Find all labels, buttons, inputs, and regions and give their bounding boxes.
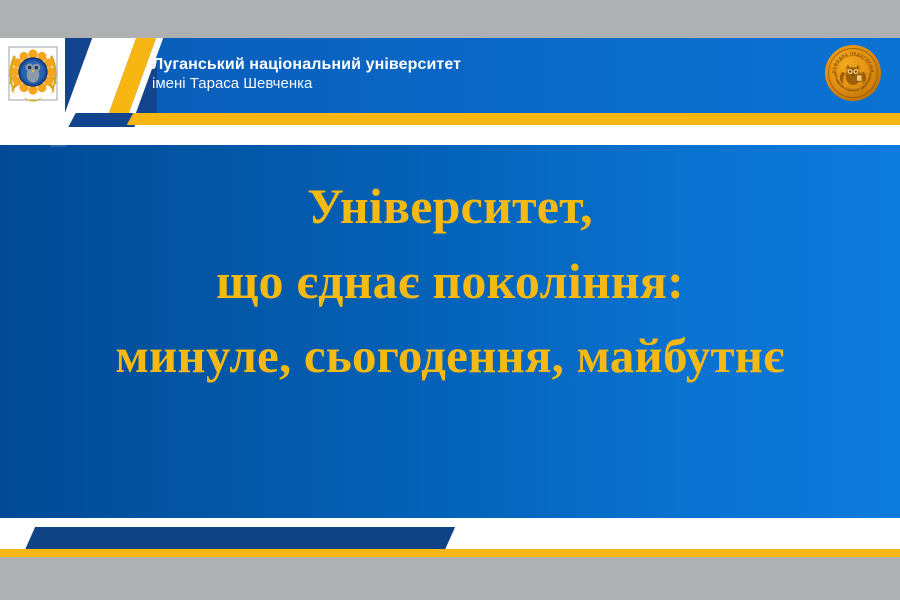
page-frame-top [0,0,900,38]
header-gold-rule [150,113,900,125]
university-name-line2: імені Тараса Шевченка [152,75,461,93]
university-name-line1: Луганський національний університет [152,56,461,75]
page-frame-bottom [0,557,900,600]
university-logo-plate [0,38,65,117]
render-artifact [50,145,66,147]
footer-gold-rule [0,549,900,557]
parallelogram-accent-icon [25,527,455,550]
slide-body: Університет, що єднає покоління: минуле,… [0,145,900,518]
university-name: Луганський національний університет імен… [152,56,461,93]
headline-line-3: минуле, сьогодення, майбутнє [0,319,900,393]
presentation-slide: Луганський національний університет імен… [0,0,900,600]
slide-headline: Університет, що єднає покоління: минуле,… [0,169,900,393]
slide-header-band: Луганський національний університет імен… [0,38,900,113]
owl-emblem-logo-icon [5,43,61,113]
headline-line-1: Університет, [0,169,900,244]
headline-line-2: що єднає покоління: [0,244,900,319]
department-seal: КАФЕДРА ПЕДАГОГІКИ ЛНУ ІМЕНІ ТАРАСА ШЕВЧ… [824,44,882,102]
department-seal-icon: КАФЕДРА ПЕДАГОГІКИ ЛНУ ІМЕНІ ТАРАСА ШЕВЧ… [824,44,882,102]
